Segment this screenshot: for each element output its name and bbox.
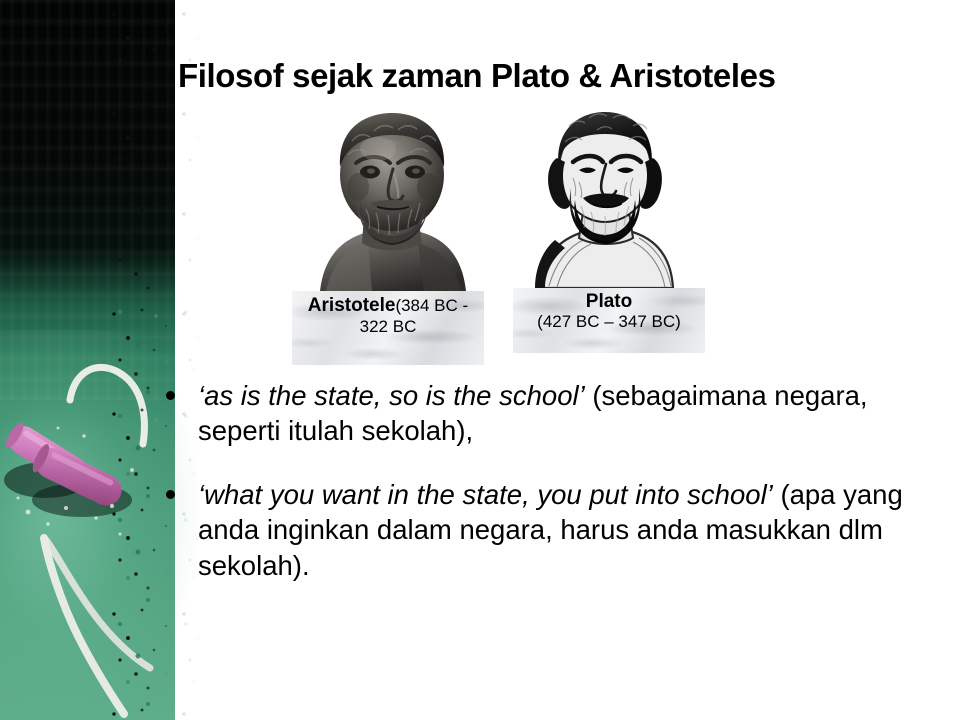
aristotle-caption-box: Aristotele(384 BC - 322 BC [292,291,484,365]
plato-caption-dates: (427 BC – 347 BC) [513,312,705,331]
bullet-item-2: ‘what you want in the state, you put int… [160,477,950,583]
bullet-item-1: ‘as is the state, so is the school’ (seb… [160,378,950,449]
aristotle-portrait-image [298,103,484,291]
bullet-list: ‘as is the state, so is the school’ (seb… [160,378,950,611]
bullet-2-quote: ‘what you want in the state, you put int… [198,479,773,510]
bullet-marker-icon [166,391,175,400]
bullet-1-quote: ‘as is the state, so is the school’ [198,380,585,411]
plato-caption-box: Plato (427 BC – 347 BC) [513,288,705,353]
plato-portrait-image [521,108,689,288]
aristotle-caption-name: Aristotele [308,295,396,316]
bullet-marker-icon [166,490,175,499]
chalkboard-decoration-panel [0,0,200,720]
plato-caption-name: Plato [513,291,705,312]
slide-canvas: Filosof sejak zaman Plato & Aristoteles [0,0,960,720]
slide-title: Filosof sejak zaman Plato & Aristoteles [178,57,938,95]
